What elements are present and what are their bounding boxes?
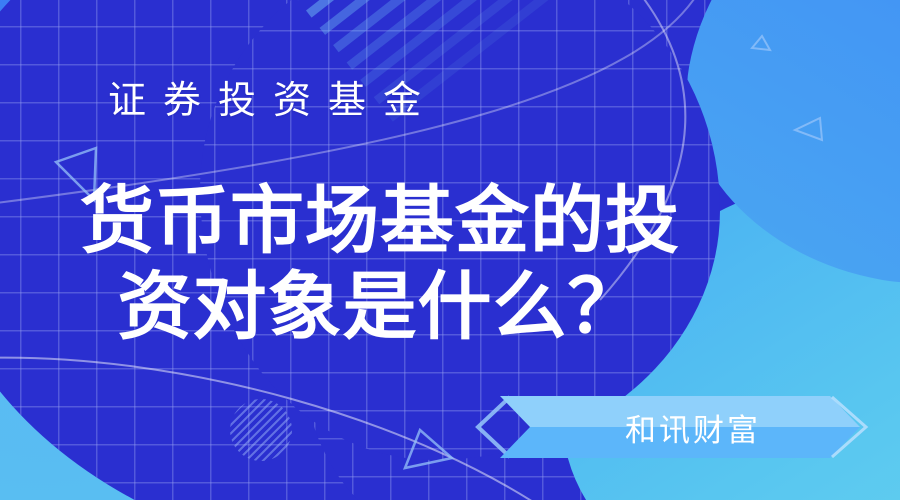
eyebrow-text: 证券投资基金 [108,78,438,124]
page-title: 货币市场基金的投 资对象是什么？ [0,178,760,350]
brand-banner: 和讯财富 [500,396,860,458]
poster-canvas: 证券投资基金 货币市场基金的投 资对象是什么？ 和讯财富 [0,0,900,500]
page-title-line-2: 资对象是什么？ [0,264,760,350]
halftone-circle [230,399,292,461]
brand-banner-label: 和讯财富 [500,396,860,458]
page-title-line-1: 货币市场基金的投 [0,178,760,264]
